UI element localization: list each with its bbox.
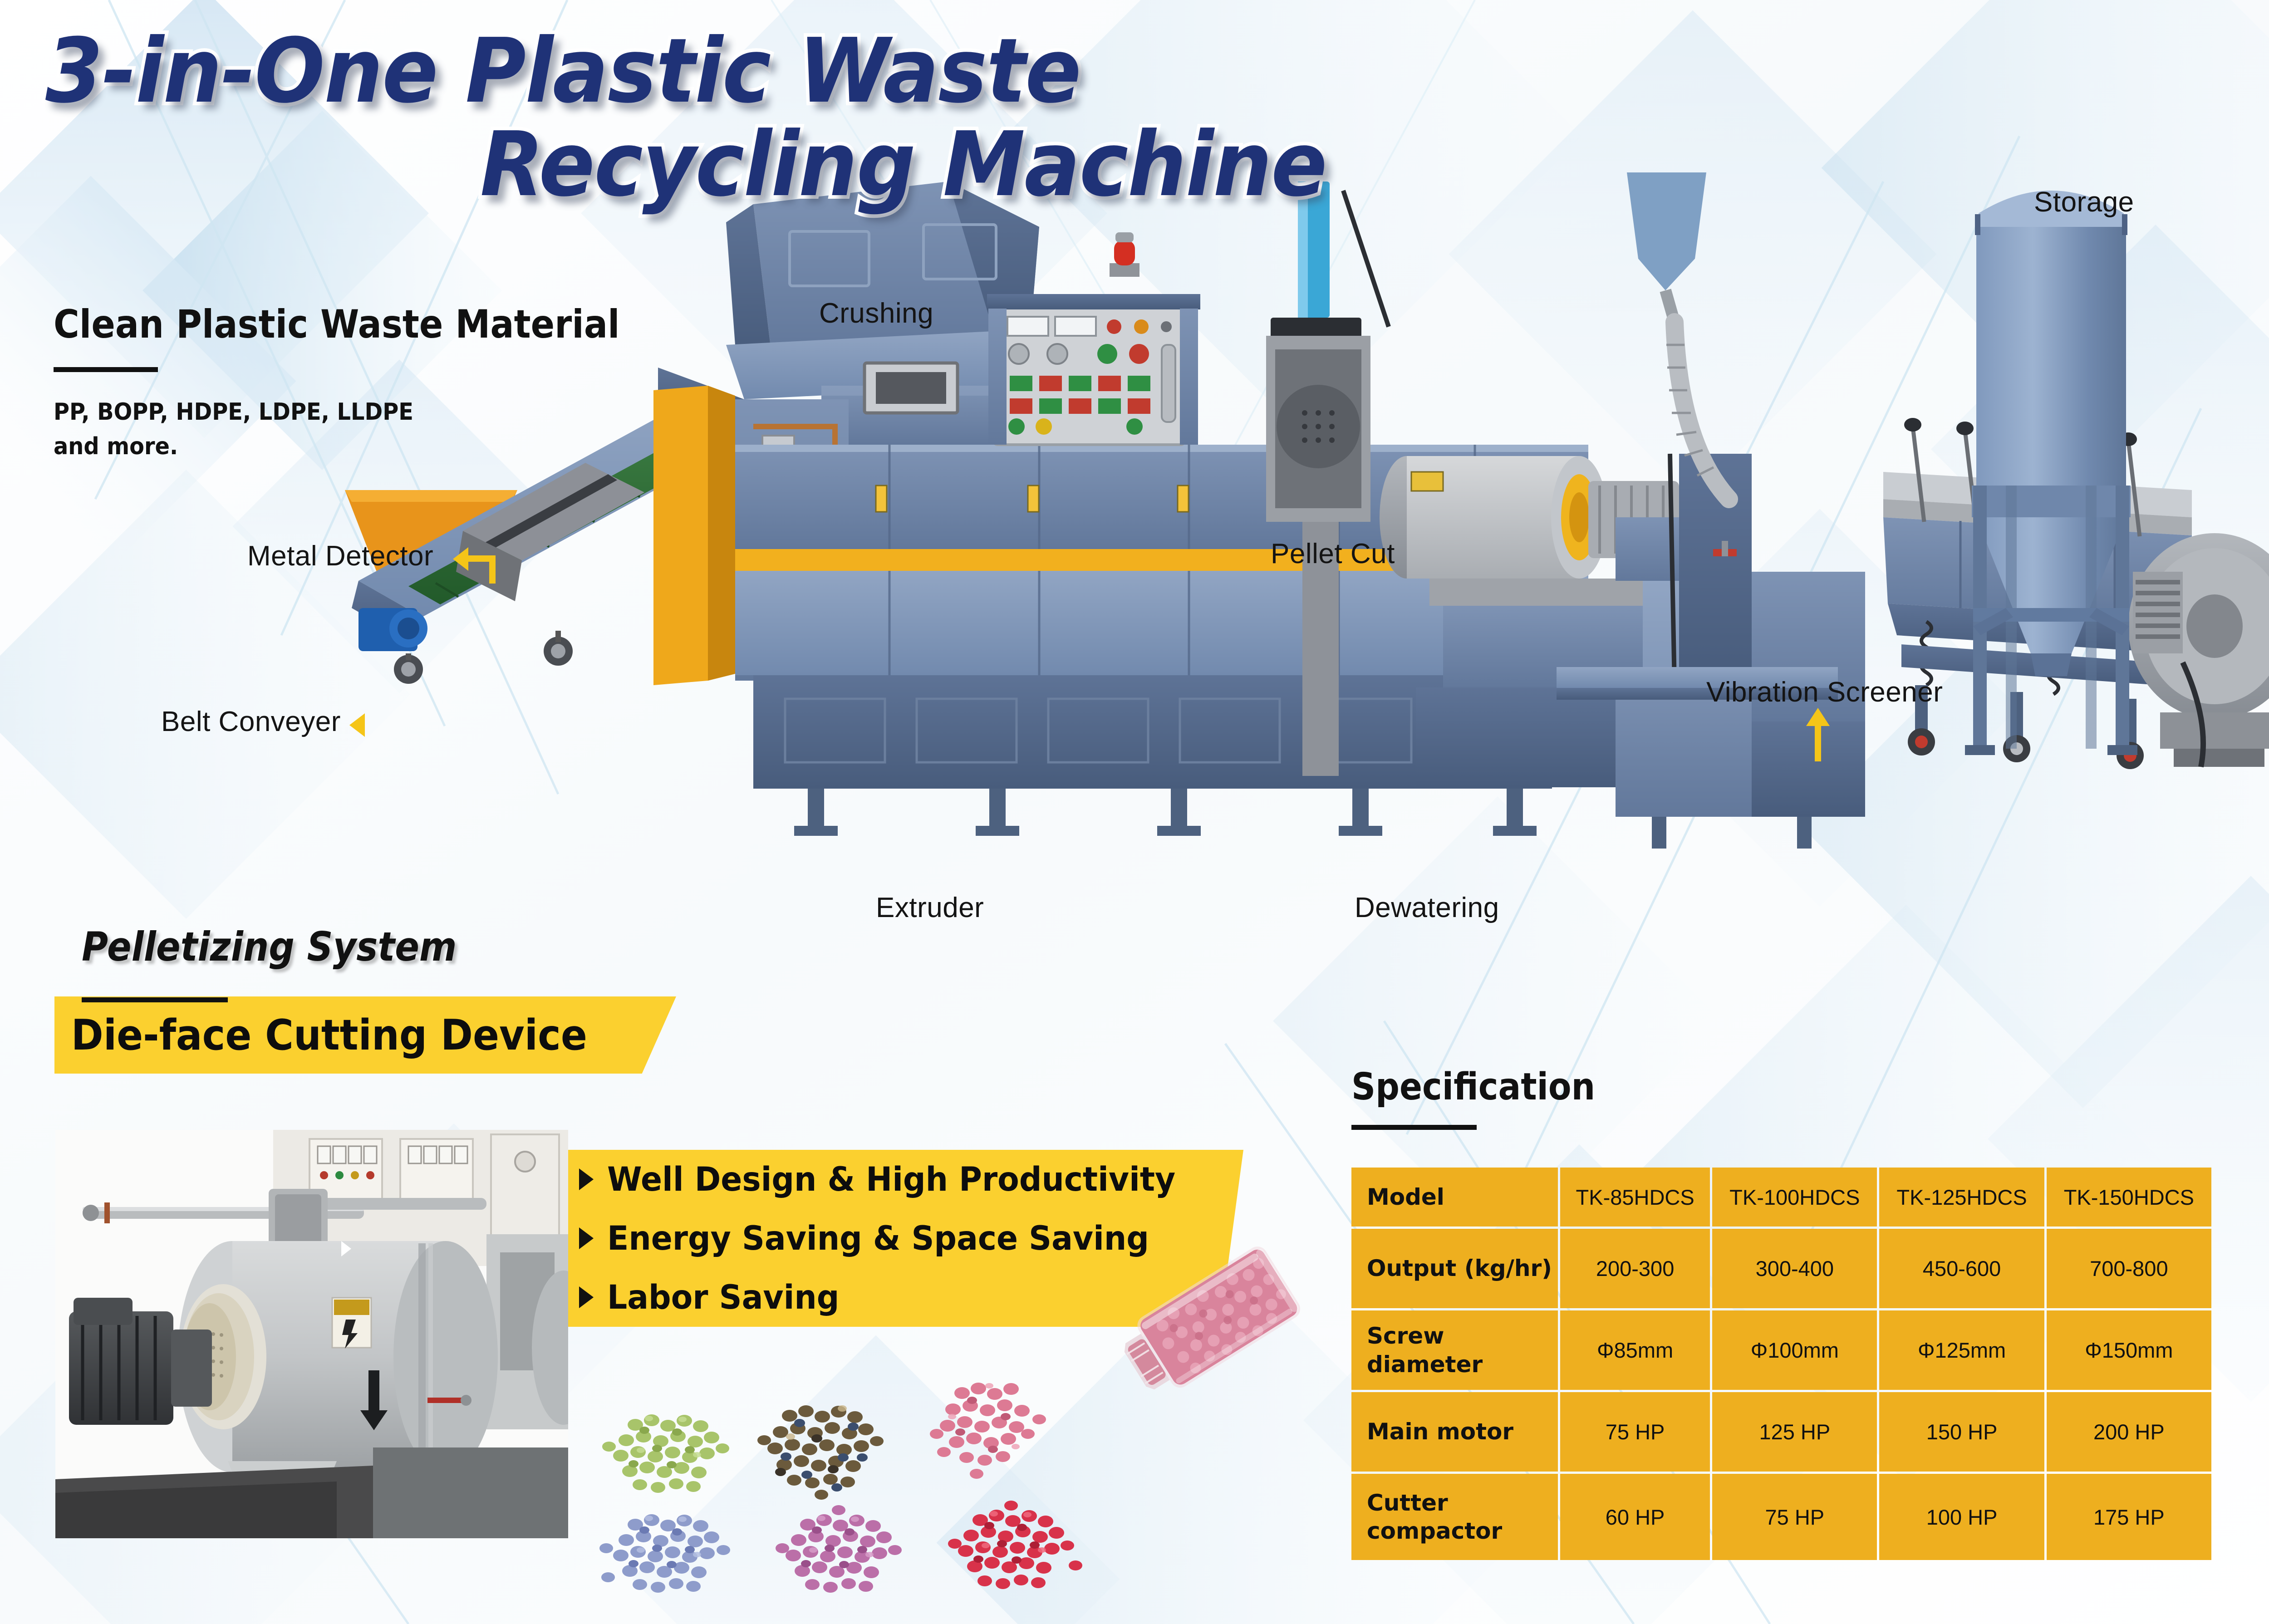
material-heading-rule [54, 367, 158, 372]
cell-motor-2: 125 HP [1712, 1392, 1877, 1472]
cell-motor-3: 150 HP [1879, 1392, 2044, 1472]
callout-pellet-cut: Pellet Cut [1271, 538, 1395, 570]
row-label-model: Model [1351, 1168, 1558, 1227]
cell-model-3: TK-125HDCS [1879, 1168, 2044, 1227]
triangle-bullet-icon [579, 1286, 594, 1308]
table-row-output: Output (kg/hr) 200-300 300-400 450-600 7… [1351, 1229, 2211, 1308]
material-body-line-1: PP, BOPP, HDPE, LDPE, LLDPE [54, 398, 632, 426]
page-title: 3-in-One Plastic Waste Recycling Machine [45, 25, 1520, 212]
specification-heading-rule [1351, 1125, 1477, 1130]
benefit-label-1: Well Design & High Productivity [607, 1160, 1175, 1199]
cell-model-2: TK-100HDCS [1712, 1168, 1877, 1227]
cell-motor-1: 75 HP [1560, 1392, 1710, 1472]
cell-cutter-4: 175 HP [2047, 1474, 2211, 1560]
callout-extruder: Extruder [876, 892, 984, 924]
metal-detector-arrow-icon [453, 547, 468, 571]
triangle-bullet-icon [579, 1168, 594, 1190]
table-row-screw-diameter: Screw diameter Φ85mm Φ100mm Φ125mm Φ150m… [1351, 1310, 2211, 1390]
pellet-pile-magenta [776, 1505, 902, 1593]
pellet-pile-green [602, 1414, 729, 1493]
belt-conveyer-arrow-icon [349, 713, 365, 737]
cell-output-2: 300-400 [1712, 1229, 1877, 1308]
cell-model-4: TK-150HDCS [2047, 1168, 2211, 1227]
callout-vibration-screener: Vibration Screener [1706, 676, 1943, 708]
benefit-label-3: Labor Saving [607, 1278, 839, 1317]
row-label-output: Output (kg/hr) [1351, 1229, 1558, 1308]
triangle-bullet-icon [579, 1227, 594, 1249]
cell-cutter-2: 75 HP [1712, 1474, 1877, 1560]
material-heading: Clean Plastic Waste Material [54, 302, 620, 347]
benefit-item-1: Well Design & High Productivity [563, 1150, 1243, 1209]
cell-cutter-1: 60 HP [1560, 1474, 1710, 1560]
pellet-pile-blue [599, 1514, 730, 1593]
vibration-screener-arrow-stem [1815, 725, 1821, 761]
row-label-cutter-compactor: Cutter compactor [1351, 1474, 1558, 1560]
callout-crushing: Crushing [819, 297, 933, 329]
cyclone-graphic [1627, 172, 1729, 499]
die-face-banner: Die-face Cutting Device [54, 996, 676, 1074]
table-row-cutter-compactor: Cutter compactor 60 HP 75 HP 100 HP 175 … [1351, 1474, 2211, 1560]
cell-screw-4: Φ150mm [2047, 1310, 2211, 1390]
table-row-main-motor: Main motor 75 HP 125 HP 150 HP 200 HP [1351, 1392, 2211, 1472]
pelletizing-section-heading: Pelletizing System [82, 923, 498, 1002]
specification-table: Model TK-85HDCS TK-100HDCS TK-125HDCS TK… [1349, 1165, 2214, 1562]
pellet-pile-red [948, 1501, 1082, 1589]
specification-section-heading: Specification [1351, 1065, 1622, 1130]
cell-motor-4: 200 HP [2047, 1392, 2211, 1472]
specification-heading: Specification [1351, 1065, 1595, 1109]
cell-output-4: 700-800 [2047, 1229, 2211, 1308]
callout-belt-conveyer: Belt Conveyer [161, 706, 341, 738]
row-label-screw-diameter: Screw diameter [1351, 1310, 1558, 1390]
pellet-jar-photo [1103, 1221, 1339, 1411]
die-face-banner-label: Die-face Cutting Device [54, 996, 626, 1074]
pelletizing-heading-rule [82, 997, 228, 1002]
die-face-cutting-device-photo [55, 1130, 568, 1538]
callout-dewatering: Dewatering [1355, 892, 1499, 924]
pellet-pile-dark [757, 1405, 884, 1500]
vibration-screener-arrow-icon [1806, 708, 1830, 726]
table-row-model: Model TK-85HDCS TK-100HDCS TK-125HDCS TK… [1351, 1168, 2211, 1227]
row-label-main-motor: Main motor [1351, 1392, 1558, 1472]
cell-screw-1: Φ85mm [1560, 1310, 1710, 1390]
title-line-2: Recycling Machine [45, 118, 1417, 212]
cell-output-3: 450-600 [1879, 1229, 2044, 1308]
cell-screw-2: Φ100mm [1712, 1310, 1877, 1390]
cell-cutter-3: 100 HP [1879, 1474, 2044, 1560]
cell-output-1: 200-300 [1560, 1229, 1710, 1308]
callout-metal-detector: Metal Detector [247, 540, 433, 572]
pellet-pile-pink [930, 1383, 1046, 1479]
material-body-line-2: and more. [54, 433, 632, 460]
blower-graphic [2128, 533, 2269, 767]
material-section: Clean Plastic Waste Material PP, BOPP, H… [54, 302, 683, 460]
callout-storage: Storage [2034, 186, 2134, 218]
row-label-cutter-line1: Cutter [1367, 1489, 1558, 1517]
row-label-cutter-line2: compactor [1367, 1517, 1558, 1545]
title-line-1: 3-in-One Plastic Waste [45, 25, 1417, 118]
pelletizing-heading: Pelletizing System [82, 923, 457, 970]
cell-model-1: TK-85HDCS [1560, 1168, 1710, 1227]
cell-screw-3: Φ125mm [1879, 1310, 2044, 1390]
benefit-label-2: Energy Saving & Space Saving [607, 1219, 1149, 1258]
metal-detector-arrow-stem-v [489, 555, 496, 584]
